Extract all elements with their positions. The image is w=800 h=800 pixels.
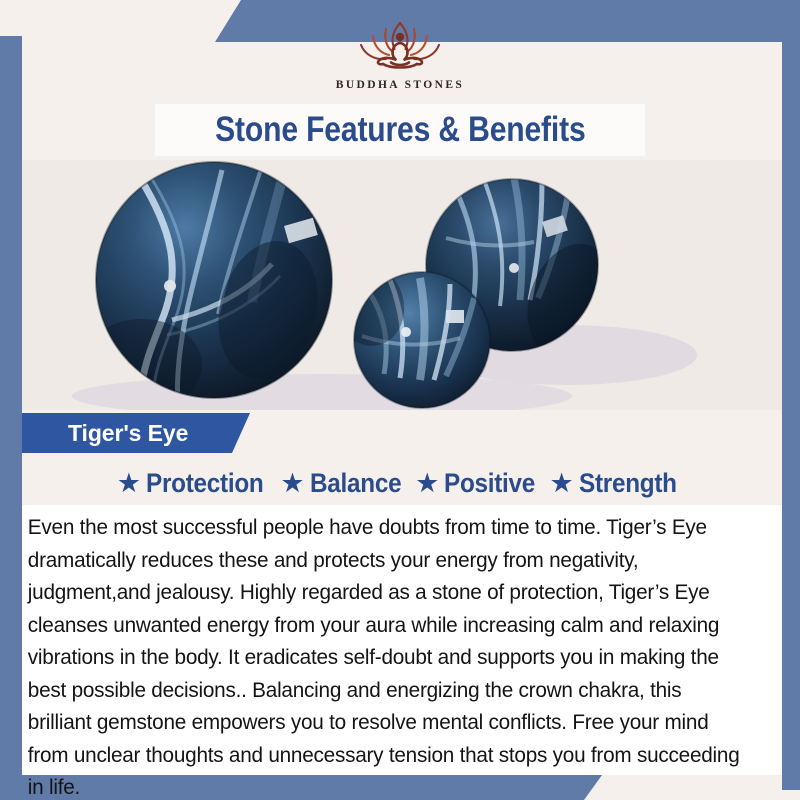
benefit-item: ★ Positive bbox=[415, 468, 545, 499]
stone-name-banner: Tiger's Eye bbox=[22, 413, 250, 453]
star-icon: ★ bbox=[415, 470, 439, 497]
benefit-item: ★ Protection bbox=[117, 468, 277, 499]
benefit-label: Balance bbox=[310, 468, 401, 499]
benefit-item: ★ Balance bbox=[280, 468, 411, 499]
benefit-label: Positive bbox=[444, 468, 535, 499]
blue-tigers-eye-spheres-photo bbox=[22, 160, 782, 410]
star-icon: ★ bbox=[549, 470, 573, 497]
page-title-bar: Stone Features & Benefits bbox=[155, 104, 645, 156]
benefit-label: Strength bbox=[579, 468, 677, 499]
benefit-label: Protection bbox=[146, 468, 263, 499]
page-title: Stone Features & Benefits bbox=[215, 110, 585, 150]
description-text: Even the most successful people have dou… bbox=[22, 505, 755, 800]
hero-image bbox=[22, 160, 782, 410]
lotus-meditation-icon bbox=[334, 18, 466, 76]
star-icon: ★ bbox=[117, 470, 141, 497]
brand-logo: BUDDHA STONES bbox=[0, 18, 800, 104]
stone-name: Tiger's Eye bbox=[68, 420, 188, 447]
right-blue-band bbox=[782, 0, 800, 790]
star-icon: ★ bbox=[280, 470, 304, 497]
left-blue-band bbox=[0, 0, 22, 800]
description-block: Even the most successful people have dou… bbox=[22, 505, 782, 775]
benefits-row: ★ Protection ★ Balance ★ Positive ★ Stre… bbox=[22, 461, 782, 505]
benefit-item: ★ Strength bbox=[549, 468, 687, 499]
brand-name: BUDDHA STONES bbox=[336, 79, 464, 91]
stone-benefits-poster: BUDDHA STONES Stone Features & Benefits bbox=[0, 0, 800, 800]
